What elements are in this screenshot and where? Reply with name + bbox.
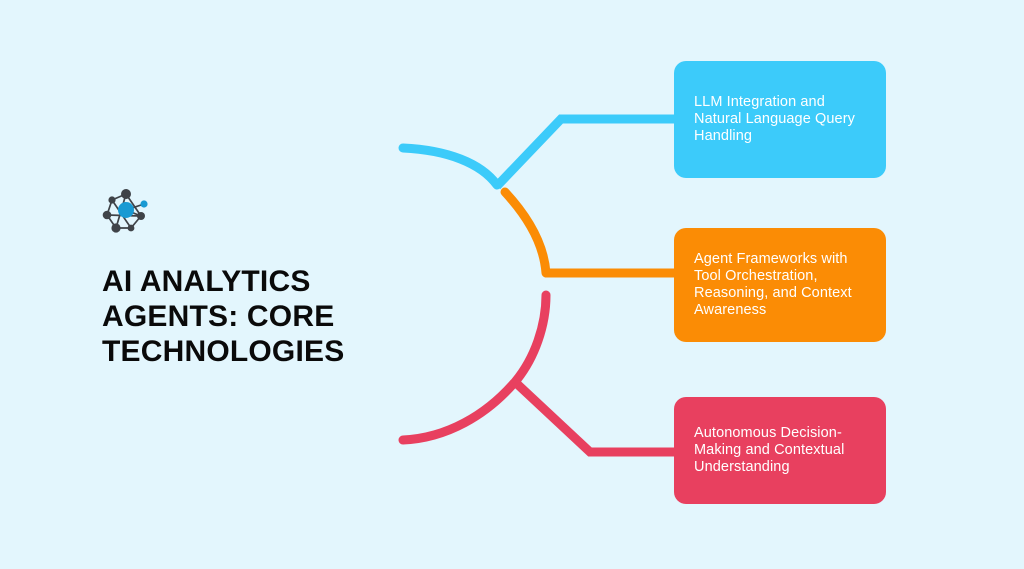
connector-elbow-pink (515, 382, 674, 452)
slide-canvas: AI Analytics Agents: Core Technologies L… (0, 0, 1024, 569)
branch-card-label: Agent Frameworks with Tool Orchestration… (694, 251, 868, 320)
connector-path-pink-lower (403, 383, 514, 440)
branch-card-label: Autonomous Decision-Making and Contextua… (694, 425, 868, 477)
page-title: AI Analytics Agents: Core Technologies (102, 264, 388, 369)
connector-elbow-blue (497, 119, 674, 186)
connector-path-orange (505, 192, 546, 273)
branch-card-label: LLM Integration and Natural Language Que… (694, 94, 868, 146)
branch-card-agent-frameworks[interactable]: Agent Frameworks with Tool Orchestration… (674, 228, 886, 342)
network-nodes-icon (100, 188, 152, 236)
brand-block: AI Analytics Agents: Core Technologies (100, 188, 400, 369)
connector-path-blue (403, 148, 497, 185)
connector-path-pink-upper (515, 295, 546, 382)
branch-card-llm-integration[interactable]: LLM Integration and Natural Language Que… (674, 61, 886, 178)
branch-card-autonomous-decision[interactable]: Autonomous Decision-Making and Contextua… (674, 397, 886, 504)
